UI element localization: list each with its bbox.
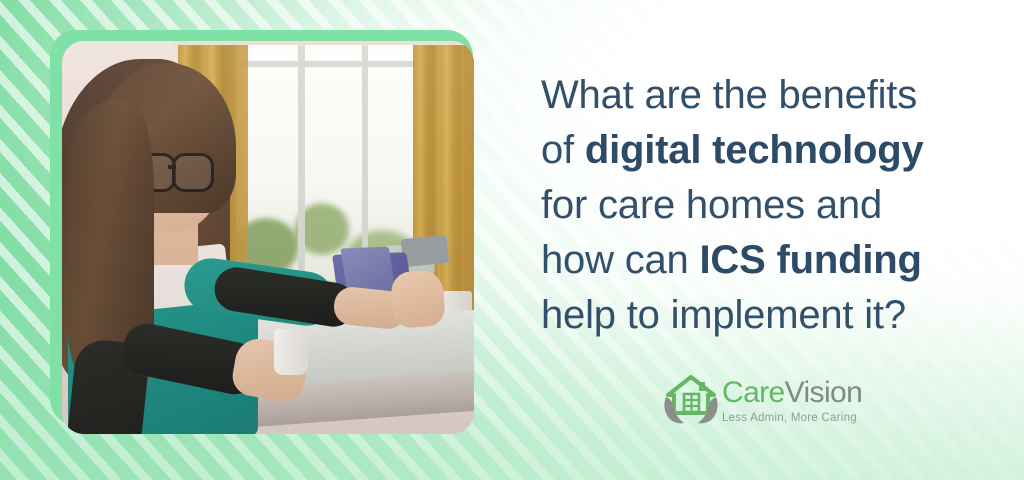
- promo-banner: What are the benefits of digital technol…: [0, 0, 1024, 480]
- logo-wordmark: CareVision: [722, 378, 862, 408]
- headline-emphasis-digital-technology-text: digital technology: [585, 128, 924, 172]
- headline-emphasis-digital-technology: digital technology: [585, 123, 924, 178]
- headline-line-5: help to implement it?: [541, 288, 1003, 343]
- headline-line-2-prefix: of: [541, 128, 585, 172]
- carevision-logo[interactable]: CareVision Less Admin, More Caring: [662, 372, 862, 434]
- logo-tagline: Less Admin, More Caring: [722, 412, 862, 424]
- headline-emphasis-ics-funding: ICS funding: [700, 233, 922, 288]
- logo-text-block: CareVision Less Admin, More Caring: [722, 372, 862, 424]
- headline-line-3: for care homes and: [541, 178, 1003, 233]
- hero-photo: [62, 41, 474, 434]
- photo-shading: [62, 41, 474, 434]
- headline-line-4-prefix: how can: [541, 238, 700, 282]
- logo-word-vision: Vision: [785, 376, 863, 409]
- headline-line-2: of digital technology: [541, 123, 1003, 178]
- logo-word-care: Care: [722, 376, 785, 409]
- headline: What are the benefits of digital technol…: [541, 68, 1003, 343]
- headline-line-4: how can ICS funding: [541, 233, 1003, 288]
- house-in-hands-icon: [662, 373, 720, 427]
- headline-emphasis-ics-funding-text: ICS funding: [700, 238, 922, 282]
- headline-line-1: What are the benefits: [541, 68, 1003, 123]
- photo-block: [50, 30, 473, 434]
